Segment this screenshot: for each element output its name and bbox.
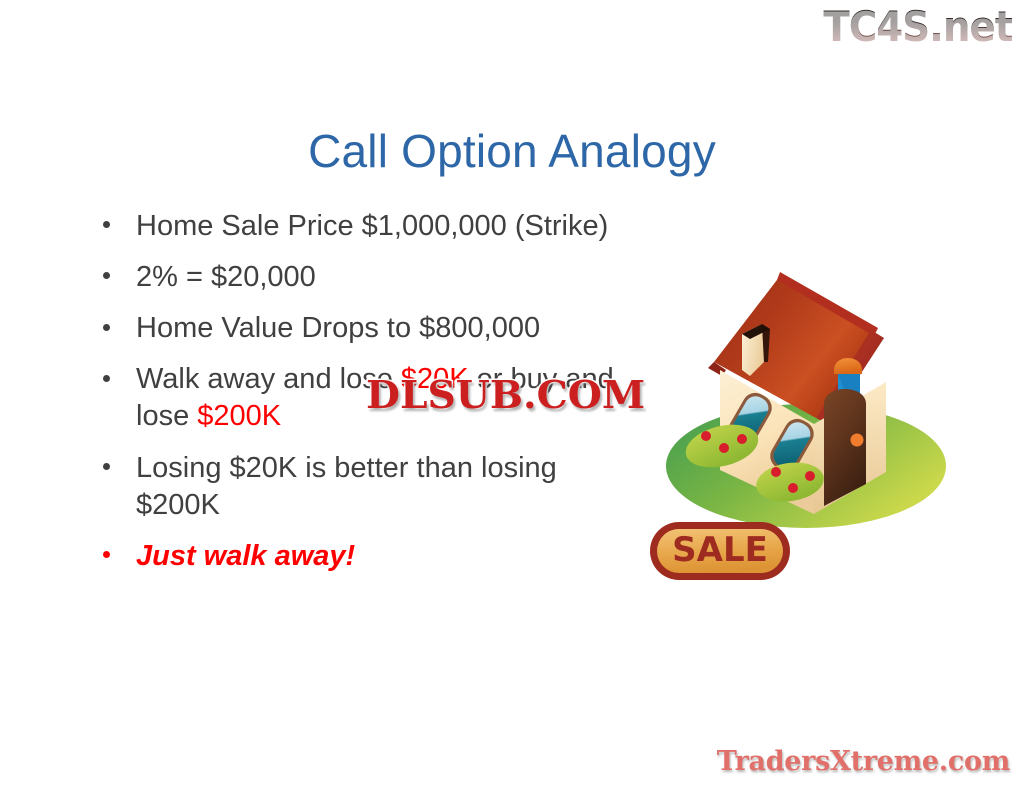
bullet-marker-icon	[103, 272, 110, 279]
bullet-marker-icon	[103, 324, 110, 331]
bullet-item-losing-comparison: Losing $20K is better than losing $200K	[96, 450, 641, 524]
bullet-text-segment: Just walk away!	[136, 540, 355, 572]
dlsub-watermark: DLSUB.COM	[366, 372, 645, 417]
sale-badge: SALE	[650, 522, 790, 580]
slide-canvas: TC4S.net Call Option Analogy Home Sale P…	[0, 0, 1024, 791]
page-title: Call Option Analogy	[0, 124, 1024, 178]
doorknob	[851, 434, 864, 447]
house-for-sale-icon: SALE	[638, 258, 958, 588]
bullet-marker-icon	[103, 221, 110, 228]
bullet-text-segment: Home Value Drops to $800,000	[136, 312, 540, 344]
house-illustration: SALE	[638, 258, 958, 588]
bullet-marker-icon	[103, 375, 110, 382]
bullet-item-home-sale-price: Home Sale Price $1,000,000 (Strike)	[96, 208, 641, 245]
bullet-text-segment: Losing $20K is better than losing $200K	[136, 452, 557, 521]
sale-badge-label: SALE	[672, 530, 768, 570]
bullet-text-segment: Walk away and lose	[136, 363, 401, 395]
bullet-item-home-value-drops: Home Value Drops to $800,000	[96, 310, 641, 347]
bullet-item-premium-percent: 2% = $20,000	[96, 259, 641, 296]
tc4s-watermark: TC4S.net	[823, 2, 1012, 51]
bullet-text-segment: $200K	[197, 400, 281, 432]
tradersxtreme-watermark: TradersXtreme.com	[717, 746, 1010, 777]
bullet-marker-icon	[103, 551, 110, 558]
bullet-text-segment: Home Sale Price $1,000,000 (Strike)	[136, 210, 608, 242]
bullet-item-just-walk-away: Just walk away!	[96, 538, 641, 575]
bullet-marker-icon	[103, 463, 110, 470]
bullet-text-segment: 2% = $20,000	[136, 261, 316, 293]
